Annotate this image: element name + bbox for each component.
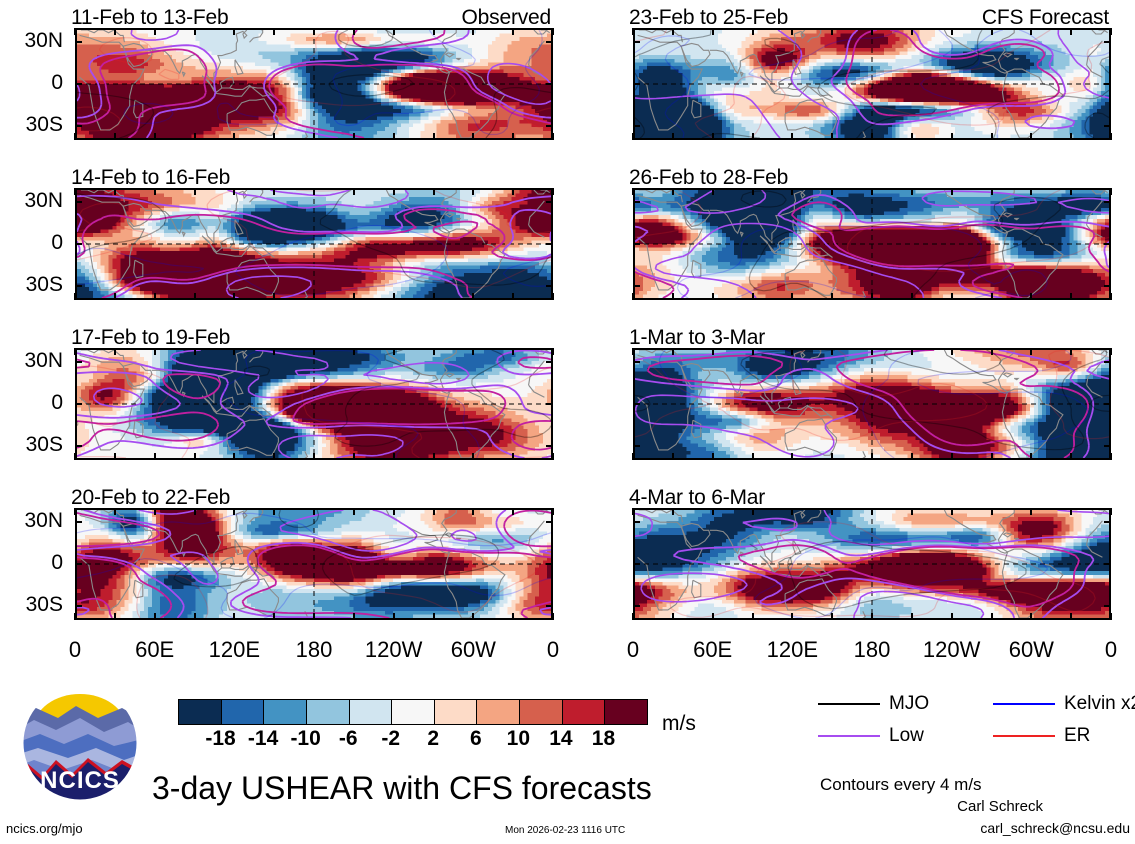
x-tickmark xyxy=(472,453,474,460)
x-tickmark xyxy=(712,293,714,300)
x-tickmark xyxy=(233,453,235,460)
author-byline: Carl Schreck xyxy=(957,798,1043,815)
x-tickmark xyxy=(393,508,395,515)
x-tickmark xyxy=(871,188,873,195)
x-tickmark xyxy=(273,28,275,35)
y-tickmark xyxy=(633,41,640,43)
x-tickmark xyxy=(114,348,116,355)
x-tickmark xyxy=(871,348,873,355)
x-tickmark xyxy=(632,613,634,620)
colorbar-swatch-6 xyxy=(435,700,478,724)
x-tickmark xyxy=(712,188,714,195)
x-tickmark xyxy=(1070,508,1072,515)
x-tickmark xyxy=(512,348,514,355)
x-tickmark xyxy=(672,613,674,620)
x-tick-60E: 60E xyxy=(110,637,200,663)
x-tickmark xyxy=(1030,508,1032,515)
x-tickmark xyxy=(472,348,474,355)
y-tickmark xyxy=(633,83,640,85)
x-tickmark xyxy=(472,188,474,195)
x-tickmark xyxy=(433,293,435,300)
x-tickmark xyxy=(512,613,514,620)
y-tickmark xyxy=(546,361,553,363)
y-tickmark xyxy=(75,521,82,523)
x-tickmark xyxy=(752,293,754,300)
x-tickmark xyxy=(512,508,514,515)
y-tickmark xyxy=(1104,521,1111,523)
x-tickmark xyxy=(871,133,873,140)
y-tickmark xyxy=(1104,285,1111,287)
x-tickmark xyxy=(752,613,754,620)
map-p8 xyxy=(633,508,1111,620)
x-tickmark xyxy=(991,293,993,300)
y-tickmark xyxy=(546,285,553,287)
x-tickmark xyxy=(911,348,913,355)
y-tick-0: 0 xyxy=(0,391,63,415)
footer-email[interactable]: carl_schreck@ncsu.edu xyxy=(980,820,1130,836)
x-tickmark xyxy=(353,28,355,35)
x-tickmark xyxy=(672,28,674,35)
y-tickmark xyxy=(633,243,640,245)
x-tickmark xyxy=(273,508,275,515)
x-tickmark xyxy=(552,188,554,195)
x-tickmark xyxy=(194,508,196,515)
colorbar-swatch-10 xyxy=(605,700,647,724)
y-tickmark xyxy=(75,445,82,447)
x-tickmark xyxy=(1070,28,1072,35)
x-tickmark xyxy=(393,613,395,620)
x-tickmark xyxy=(632,453,634,460)
x-tickmark xyxy=(512,133,514,140)
x-tickmark xyxy=(1110,508,1112,515)
x-tickmark xyxy=(353,613,355,620)
x-tickmark xyxy=(433,508,435,515)
colorbar-swatch-4 xyxy=(350,700,393,724)
x-tickmark xyxy=(1110,133,1112,140)
x-tickmark xyxy=(752,453,754,460)
y-tickmark xyxy=(546,201,553,203)
y-tickmark xyxy=(75,605,82,607)
x-tickmark xyxy=(951,348,953,355)
x-tickmark xyxy=(552,508,554,515)
legend-label: MJO xyxy=(889,693,929,715)
x-tickmark xyxy=(791,293,793,300)
x-tickmark xyxy=(433,28,435,35)
x-tickmark xyxy=(433,188,435,195)
x-tickmark xyxy=(911,293,913,300)
x-tickmark xyxy=(1110,613,1112,620)
x-tickmark xyxy=(552,453,554,460)
x-tickmark xyxy=(1030,28,1032,35)
x-tickmark xyxy=(114,613,116,620)
panel-title-p8: 4-Mar to 6-Mar xyxy=(629,486,765,510)
x-tickmark xyxy=(273,188,275,195)
x-tickmark xyxy=(233,28,235,35)
x-tickmark xyxy=(1110,453,1112,460)
y-tickmark xyxy=(75,125,82,127)
column-header-right: CFS Forecast xyxy=(982,6,1109,30)
x-tickmark xyxy=(313,453,315,460)
y-tickmark xyxy=(75,361,82,363)
x-tickmark xyxy=(712,28,714,35)
x-tickmark xyxy=(393,188,395,195)
x-tickmark xyxy=(114,508,116,515)
x-tickmark xyxy=(393,453,395,460)
x-tickmark xyxy=(74,348,76,355)
x-tickmark xyxy=(512,453,514,460)
y-tickmark xyxy=(75,41,82,43)
x-tickmark xyxy=(472,293,474,300)
x-tickmark xyxy=(273,453,275,460)
x-tickmark xyxy=(552,28,554,35)
x-tickmark xyxy=(911,133,913,140)
x-tickmark xyxy=(273,613,275,620)
y-tickmark xyxy=(546,563,553,565)
x-tickmark xyxy=(313,508,315,515)
x-tickmark xyxy=(1070,293,1072,300)
x-tickmark xyxy=(433,453,435,460)
x-tickmark xyxy=(632,348,634,355)
y-tick-0: 0 xyxy=(0,551,63,575)
x-tickmark xyxy=(313,293,315,300)
map-p4 xyxy=(75,508,553,620)
y-tickmark xyxy=(1104,201,1111,203)
panel-title-p7: 1-Mar to 3-Mar xyxy=(629,326,765,350)
x-tickmark xyxy=(951,508,953,515)
x-tickmark xyxy=(194,348,196,355)
legend-label: Low xyxy=(889,725,924,747)
x-tickmark xyxy=(1110,28,1112,35)
y-tickmark xyxy=(633,125,640,127)
x-tickmark xyxy=(194,293,196,300)
x-tickmark xyxy=(353,453,355,460)
y-tickmark xyxy=(75,243,82,245)
colorbar-swatch-8 xyxy=(520,700,563,724)
y-tickmark xyxy=(633,605,640,607)
map-p2 xyxy=(75,188,553,300)
x-tickmark xyxy=(1030,348,1032,355)
x-tickmark xyxy=(672,508,674,515)
x-tick-120E: 120E xyxy=(189,637,279,663)
x-tickmark xyxy=(752,508,754,515)
x-tickmark xyxy=(951,188,953,195)
panel-title-p3: 17-Feb to 19-Feb xyxy=(71,326,230,350)
x-tickmark xyxy=(831,133,833,140)
x-tickmark xyxy=(114,28,116,35)
map-p5 xyxy=(633,28,1111,140)
x-tickmark xyxy=(114,453,116,460)
y-tick-30N: 30N xyxy=(0,29,63,53)
x-tickmark xyxy=(194,188,196,195)
x-tickmark xyxy=(791,508,793,515)
x-tickmark xyxy=(1110,348,1112,355)
y-tickmark xyxy=(1104,243,1111,245)
x-tickmark xyxy=(154,613,156,620)
x-tickmark xyxy=(313,348,315,355)
y-tickmark xyxy=(633,521,640,523)
x-tickmark xyxy=(831,293,833,300)
x-tickmark xyxy=(752,28,754,35)
legend-line-swatch xyxy=(993,703,1055,705)
x-tickmark xyxy=(552,293,554,300)
x-tickmark xyxy=(831,188,833,195)
legend-line-swatch xyxy=(818,735,880,737)
x-tickmark xyxy=(752,188,754,195)
y-tick-30S: 30S xyxy=(0,593,63,617)
x-tickmark xyxy=(393,348,395,355)
x-tickmark xyxy=(74,293,76,300)
x-tickmark xyxy=(353,348,355,355)
y-tickmark xyxy=(546,445,553,447)
map-p7 xyxy=(633,348,1111,460)
ncics-logo: NCICS xyxy=(18,684,142,802)
x-tickmark xyxy=(951,613,953,620)
x-tickmark xyxy=(712,613,714,620)
map-p3 xyxy=(75,348,553,460)
y-tick-30S: 30S xyxy=(0,273,63,297)
y-tick-0: 0 xyxy=(0,231,63,255)
x-tickmark xyxy=(194,28,196,35)
y-tickmark xyxy=(633,201,640,203)
x-tick-180: 180 xyxy=(827,637,917,663)
x-tick-120E: 120E xyxy=(747,637,837,663)
x-tick-0: 0 xyxy=(588,637,678,663)
x-tickmark xyxy=(512,188,514,195)
x-tickmark xyxy=(712,133,714,140)
main-title: 3-day USHEAR with CFS forecasts xyxy=(152,770,652,807)
x-tickmark xyxy=(752,348,754,355)
x-tickmark xyxy=(632,508,634,515)
x-tickmark xyxy=(712,508,714,515)
x-tickmark xyxy=(154,188,156,195)
panel-title-p1: 11-Feb to 13-Feb xyxy=(71,6,229,30)
x-tickmark xyxy=(1030,613,1032,620)
y-tickmark xyxy=(633,361,640,363)
x-tickmark xyxy=(74,28,76,35)
x-tickmark xyxy=(632,188,634,195)
x-tickmark xyxy=(1070,613,1072,620)
x-tickmark xyxy=(313,613,315,620)
footer-website-link[interactable]: ncics.org/mjo xyxy=(6,821,83,836)
x-tickmark xyxy=(991,613,993,620)
legend-item-mjo: MJO xyxy=(818,693,929,715)
x-tickmark xyxy=(472,28,474,35)
colorbar-tick-18: 18 xyxy=(573,727,633,751)
x-tickmark xyxy=(433,613,435,620)
x-tick-60E: 60E xyxy=(668,637,758,663)
x-tickmark xyxy=(951,28,953,35)
x-tickmark xyxy=(353,188,355,195)
x-tickmark xyxy=(233,188,235,195)
x-tick-60W: 60W xyxy=(428,637,518,663)
x-tickmark xyxy=(831,28,833,35)
y-tickmark xyxy=(633,563,640,565)
x-tickmark xyxy=(632,28,634,35)
x-tickmark xyxy=(991,28,993,35)
y-tickmark xyxy=(546,521,553,523)
y-tick-30S: 30S xyxy=(0,113,63,137)
y-tickmark xyxy=(1104,361,1111,363)
y-tick-30N: 30N xyxy=(0,509,63,533)
x-tickmark xyxy=(991,508,993,515)
x-tickmark xyxy=(114,293,116,300)
x-tickmark xyxy=(74,453,76,460)
panel-title-p5: 23-Feb to 25-Feb xyxy=(629,6,788,30)
x-tickmark xyxy=(114,188,116,195)
x-tickmark xyxy=(472,508,474,515)
x-tickmark xyxy=(831,453,833,460)
legend-label: Kelvin x2 xyxy=(1064,693,1135,715)
x-tickmark xyxy=(552,133,554,140)
x-tickmark xyxy=(472,133,474,140)
y-tick-30N: 30N xyxy=(0,349,63,373)
x-tickmark xyxy=(1030,453,1032,460)
y-tickmark xyxy=(75,83,82,85)
map-p6 xyxy=(633,188,1111,300)
x-tickmark xyxy=(393,133,395,140)
x-tickmark xyxy=(154,508,156,515)
colorbar xyxy=(178,699,648,725)
x-tickmark xyxy=(74,133,76,140)
y-tickmark xyxy=(75,285,82,287)
x-tick-0: 0 xyxy=(30,637,120,663)
y-tickmark xyxy=(75,403,82,405)
x-tickmark xyxy=(672,348,674,355)
column-header-left: Observed xyxy=(462,6,551,30)
legend-label: ER xyxy=(1064,725,1090,747)
x-tick-60W: 60W xyxy=(986,637,1076,663)
x-tickmark xyxy=(871,508,873,515)
x-tickmark xyxy=(154,453,156,460)
x-tickmark xyxy=(512,293,514,300)
colorbar-swatch-7 xyxy=(477,700,520,724)
x-tickmark xyxy=(632,133,634,140)
x-tickmark xyxy=(911,613,913,620)
x-tickmark xyxy=(831,613,833,620)
x-tickmark xyxy=(194,613,196,620)
x-tickmark xyxy=(74,188,76,195)
x-tickmark xyxy=(233,508,235,515)
x-tickmark xyxy=(871,293,873,300)
legend-item-kelvin-x2: Kelvin x2 xyxy=(993,693,1135,715)
x-tickmark xyxy=(1070,133,1072,140)
x-tickmark xyxy=(393,28,395,35)
footer-timestamp: Mon 2026-02-23 1116 UTC xyxy=(505,825,625,836)
y-tickmark xyxy=(546,41,553,43)
x-tickmark xyxy=(791,133,793,140)
x-tickmark xyxy=(154,28,156,35)
x-tickmark xyxy=(552,348,554,355)
colorbar-swatch-5 xyxy=(392,700,435,724)
x-tickmark xyxy=(313,28,315,35)
y-tickmark xyxy=(546,403,553,405)
y-tickmark xyxy=(633,285,640,287)
y-tickmark xyxy=(1104,125,1111,127)
y-tickmark xyxy=(546,605,553,607)
x-tickmark xyxy=(154,293,156,300)
map-p1 xyxy=(75,28,553,140)
y-tickmark xyxy=(1104,563,1111,565)
colorbar-swatch-9 xyxy=(563,700,606,724)
y-tickmark xyxy=(1104,41,1111,43)
x-tickmark xyxy=(433,348,435,355)
x-tickmark xyxy=(233,613,235,620)
x-tickmark xyxy=(194,453,196,460)
x-tickmark xyxy=(712,348,714,355)
x-tickmark xyxy=(194,133,196,140)
y-tick-30S: 30S xyxy=(0,433,63,457)
panel-title-p6: 26-Feb to 28-Feb xyxy=(629,166,788,190)
y-tickmark xyxy=(1104,605,1111,607)
y-tick-0: 0 xyxy=(0,71,63,95)
panel-title-p4: 20-Feb to 22-Feb xyxy=(71,486,230,510)
x-tickmark xyxy=(114,133,116,140)
y-tickmark xyxy=(633,403,640,405)
x-tickmark xyxy=(233,293,235,300)
y-tickmark xyxy=(75,201,82,203)
colorbar-swatch-2 xyxy=(264,700,307,724)
y-tickmark xyxy=(75,563,82,565)
y-tickmark xyxy=(546,83,553,85)
x-tickmark xyxy=(791,28,793,35)
y-tickmark xyxy=(1104,83,1111,85)
x-tickmark xyxy=(951,293,953,300)
x-tick-0: 0 xyxy=(1066,637,1135,663)
y-tickmark xyxy=(1104,403,1111,405)
legend-line-swatch xyxy=(818,703,880,705)
x-tickmark xyxy=(991,133,993,140)
legend-item-low: Low xyxy=(818,725,924,747)
x-tickmark xyxy=(911,508,913,515)
x-tickmark xyxy=(313,133,315,140)
x-tickmark xyxy=(472,613,474,620)
x-tickmark xyxy=(791,453,793,460)
x-tickmark xyxy=(871,453,873,460)
x-tickmark xyxy=(911,453,913,460)
x-tickmark xyxy=(672,133,674,140)
y-tickmark xyxy=(546,125,553,127)
legend-item-er: ER xyxy=(993,725,1090,747)
x-tickmark xyxy=(871,613,873,620)
x-tickmark xyxy=(393,293,395,300)
x-tickmark xyxy=(791,348,793,355)
y-tickmark xyxy=(1104,445,1111,447)
x-tickmark xyxy=(353,293,355,300)
x-tick-120W: 120W xyxy=(349,637,439,663)
x-tickmark xyxy=(1070,348,1072,355)
x-tickmark xyxy=(273,348,275,355)
x-tickmark xyxy=(871,28,873,35)
x-tickmark xyxy=(672,188,674,195)
x-tick-120W: 120W xyxy=(907,637,997,663)
legend-line-swatch xyxy=(993,735,1055,737)
panel-title-p2: 14-Feb to 16-Feb xyxy=(71,166,230,190)
x-tickmark xyxy=(1070,453,1072,460)
x-tickmark xyxy=(911,188,913,195)
y-tickmark xyxy=(546,243,553,245)
colorbar-swatch-1 xyxy=(222,700,265,724)
x-tickmark xyxy=(752,133,754,140)
x-tickmark xyxy=(552,613,554,620)
x-tickmark xyxy=(791,188,793,195)
x-tickmark xyxy=(233,133,235,140)
x-tickmark xyxy=(911,28,913,35)
x-tickmark xyxy=(74,508,76,515)
x-tickmark xyxy=(353,508,355,515)
x-tickmark xyxy=(632,293,634,300)
x-tickmark xyxy=(1030,188,1032,195)
colorbar-swatch-3 xyxy=(307,700,350,724)
